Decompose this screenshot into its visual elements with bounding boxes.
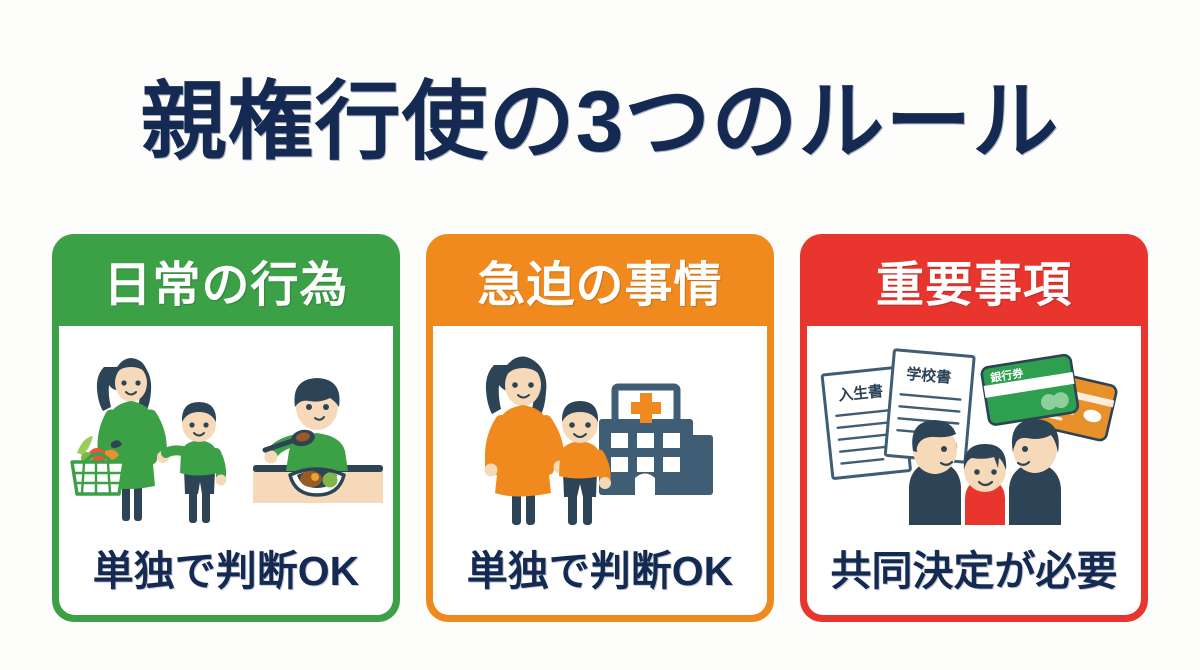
card-caption-urgent-circumstances: 単独で判断OK xyxy=(433,537,767,615)
card-caption-important-matters: 共同決定が必要 xyxy=(807,537,1141,615)
page-title: 親権行使の3つのルール xyxy=(0,74,1200,170)
card-body-urgent-circumstances: 単独で判断OK xyxy=(433,326,767,615)
card-body-daily-acts: 単独で判断OK xyxy=(59,326,393,615)
rule-card-row: 日常の行為 xyxy=(52,234,1148,622)
illustration-mother-with-shopping-basket-child-and-person-eating xyxy=(59,326,393,537)
card-header-daily-acts: 日常の行為 xyxy=(52,234,400,326)
illustration-mother-and-child-in-front-of-hospital xyxy=(433,326,767,537)
infographic-root: 親権行使の3つのルール 日常の行為 xyxy=(0,0,1200,670)
rule-card-important-matters[interactable]: 重要事項 入生書 xyxy=(800,234,1148,622)
card-header-important-matters: 重要事項 xyxy=(800,234,1148,326)
card-caption-daily-acts: 単独で判断OK xyxy=(59,537,393,615)
illustration-two-parents-and-child-with-documents-and-bank-cards: 入生書 学校書 xyxy=(807,326,1141,537)
card-header-urgent-circumstances: 急迫の事情 xyxy=(426,234,774,326)
rule-card-daily-acts[interactable]: 日常の行為 xyxy=(52,234,400,622)
rule-card-urgent-circumstances[interactable]: 急迫の事情 xyxy=(426,234,774,622)
card-body-important-matters: 入生書 学校書 xyxy=(807,326,1141,615)
